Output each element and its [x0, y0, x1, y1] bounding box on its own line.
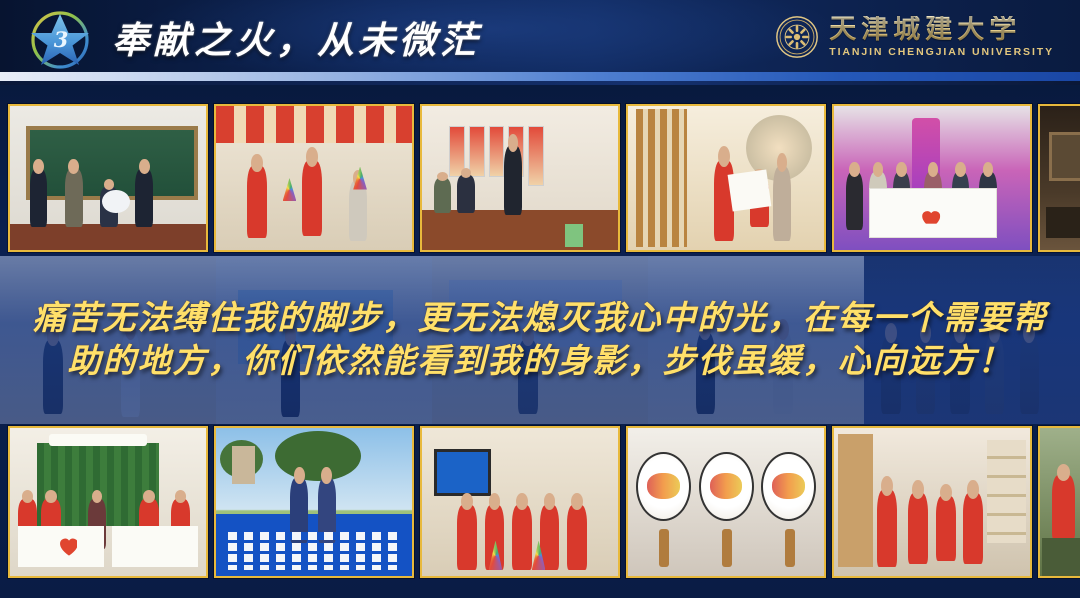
university-lockup: 天津城建大学 TIANJIN CHENGJIAN UNIVERSITY — [775, 8, 1054, 66]
photo-birthday-elderly[interactable] — [214, 104, 414, 252]
photo-delivering-supplies[interactable] — [626, 104, 826, 252]
quote-line-1: 痛苦无法缚住我的脚步，更无法熄灭我心中的光，在每一个需要帮 — [33, 299, 1048, 338]
photo-group-green-wall[interactable] — [8, 426, 208, 578]
header-accent-bar — [0, 72, 1080, 81]
photo-outdoor-cleaning[interactable] — [1038, 426, 1080, 578]
slide-header: 3 奉献之火，从未微茫 — [0, 0, 1080, 72]
photo-meeting-speech[interactable] — [420, 104, 620, 252]
university-seal — [775, 15, 819, 59]
photo-fan-paintings[interactable] — [626, 426, 826, 578]
quote-banner: 痛苦无法缚住我的脚步，更无法熄灭我心中的光，在每一个需要帮 助的地方，你们依然能… — [0, 256, 1080, 424]
header-accent-bar-shadow — [0, 81, 1080, 85]
quote-text-block: 痛苦无法缚住我的脚步，更无法熄灭我心中的光，在每一个需要帮 助的地方，你们依然能… — [0, 256, 1080, 424]
university-name-cn: 天津城建大学 — [829, 16, 1054, 44]
quote-line-2: 助的地方，你们依然能看到我的身影，步伐虽缓，心向远方！ — [68, 342, 1013, 381]
photo-lobby-activity[interactable] — [1038, 104, 1080, 252]
photo-row-bottom — [0, 426, 1080, 578]
page-title: 奉献之火，从未微茫 — [112, 6, 481, 68]
photo-volunteers-celebration[interactable] — [420, 426, 620, 578]
photo-group-charity-banner[interactable] — [832, 104, 1032, 252]
star-badge: 3 — [24, 7, 96, 72]
photo-corridor-walking[interactable] — [832, 426, 1032, 578]
svg-text:3: 3 — [54, 27, 69, 52]
photo-row-top — [0, 104, 1080, 252]
photo-classroom-award[interactable] — [8, 104, 208, 252]
photo-grid: 痛苦无法缚住我的脚步，更无法熄灭我心中的光，在每一个需要帮 助的地方，你们依然能… — [0, 96, 1080, 598]
university-name-en: TIANJIN CHENGJIAN UNIVERSITY — [829, 46, 1054, 58]
photo-outdoor-water-station[interactable] — [214, 426, 414, 578]
presentation-slide: 3 奉献之火，从未微茫 — [0, 0, 1080, 598]
